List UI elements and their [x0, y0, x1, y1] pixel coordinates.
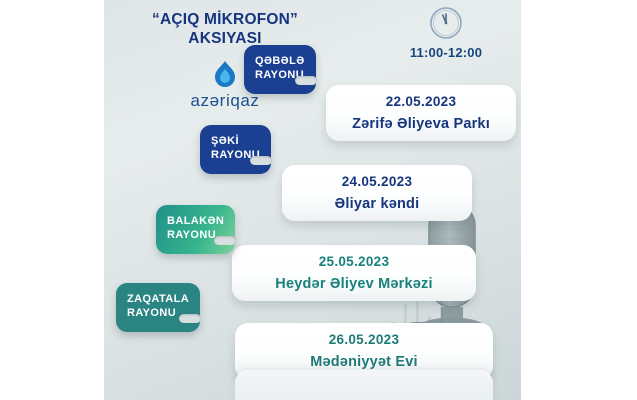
district-tag-line-1: QƏBƏLƏ: [255, 55, 305, 67]
event-row: 24.05.2023 Əliyar kəndi ŞƏKİ RAYONU: [104, 120, 521, 182]
event-date: 24.05.2023: [342, 174, 413, 189]
district-tag-line-1: ŞƏKİ: [211, 135, 239, 147]
event-place: Mədəniyyət Evi: [310, 354, 418, 370]
event-date: 25.05.2023: [319, 254, 390, 269]
tag-connector: [250, 154, 280, 167]
tag-connector: [179, 312, 209, 325]
tag-connector: [214, 234, 244, 247]
tag-connector: [295, 74, 325, 87]
event-row: 25.05.2023 Heydər Əliyev Mərkəzi BALAKƏN…: [104, 200, 521, 262]
clock-icon: [380, 6, 512, 40]
district-tag: QƏBƏLƏ RAYONU: [244, 45, 316, 94]
event-date: 22.05.2023: [386, 94, 457, 109]
district-tag: ŞƏKİ RAYONU: [200, 125, 271, 174]
event-date: 26.05.2023: [329, 332, 400, 347]
poster-canvas: “AÇIQ MİKROFON” AKSIYASI azəriqaz 11:00-…: [104, 0, 521, 400]
event-row: 26.05.2023 Mədəniyyət Evi ZAQATALA RAYON…: [104, 278, 521, 340]
district-tag-line-1: BALAKƏN: [167, 215, 224, 227]
district-tag: ZAQATALA RAYONU: [116, 283, 200, 332]
partial-card-decoration: [235, 370, 493, 400]
title-line-1: “AÇIQ MİKROFON”: [110, 10, 340, 29]
district-tag-line-1: ZAQATALA: [127, 293, 189, 305]
event-row: 22.05.2023 Zərifə Əliyeva Parkı QƏBƏLƏ R…: [104, 40, 521, 102]
district-tag: BALAKƏN RAYONU: [156, 205, 235, 254]
